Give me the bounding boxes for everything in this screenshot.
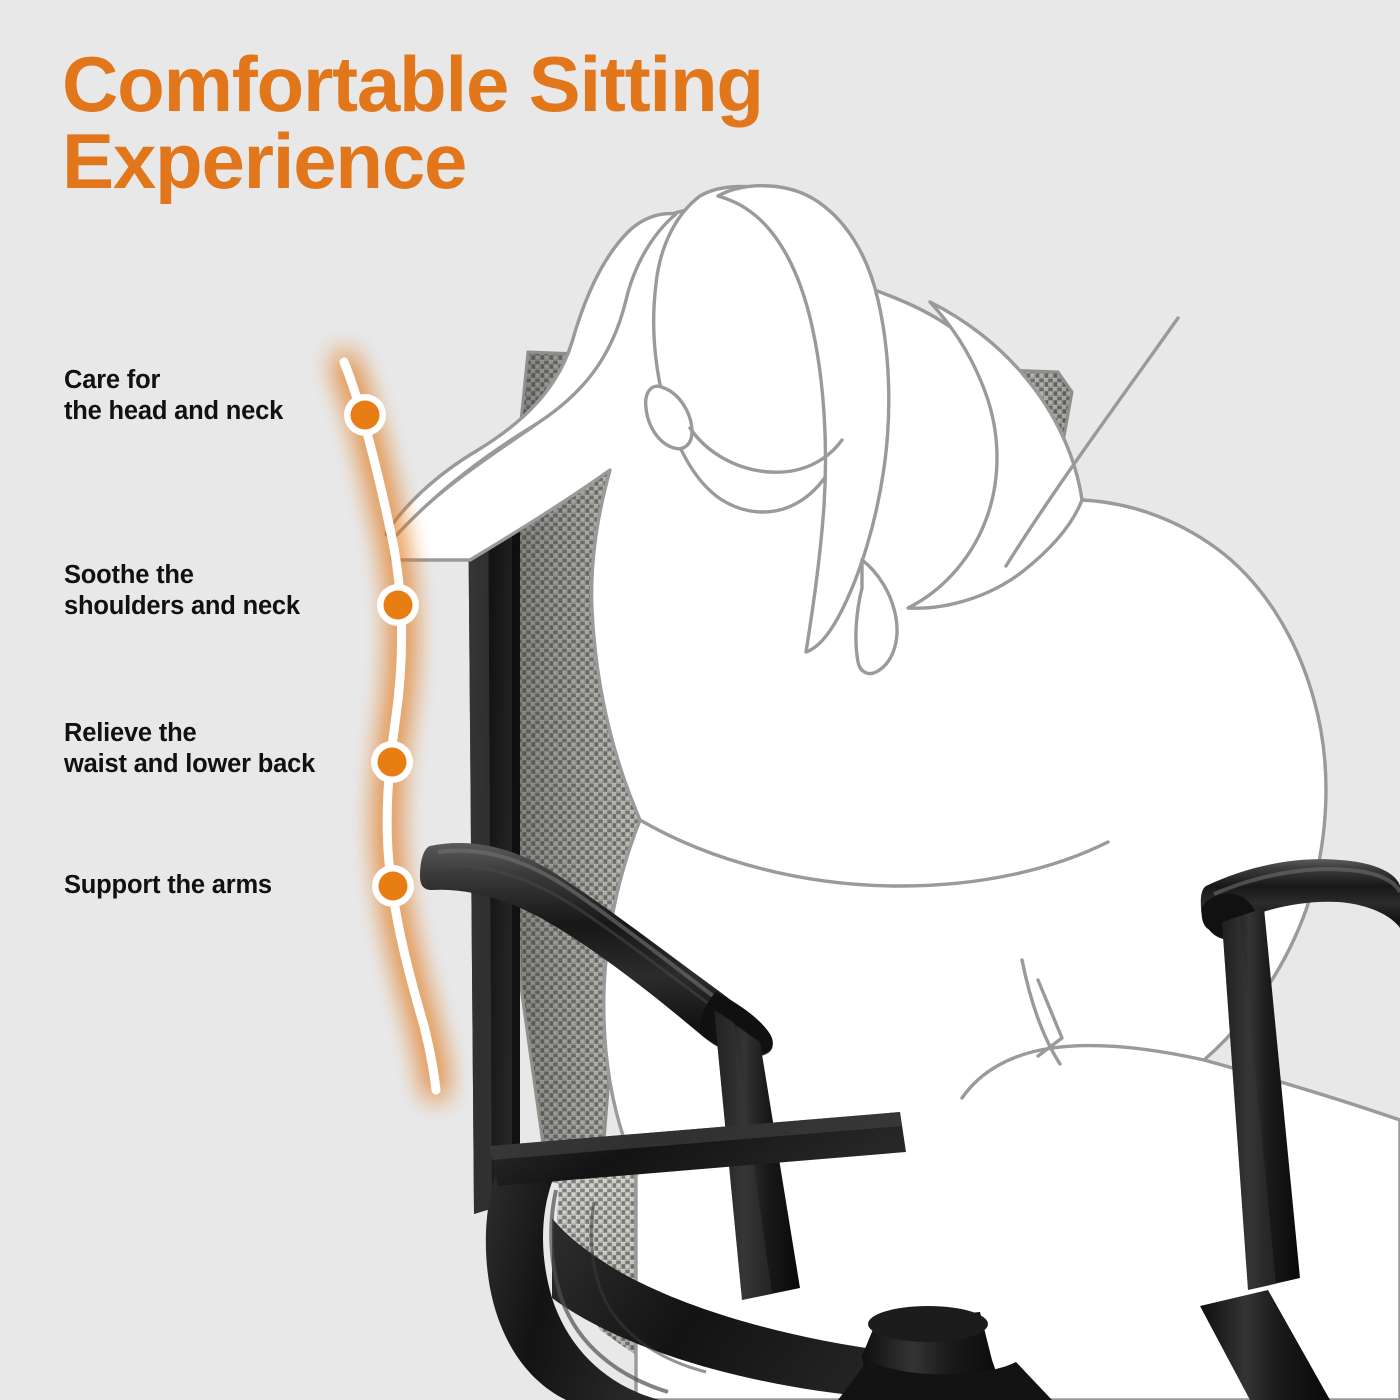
callout-line-2: waist and lower back	[64, 749, 315, 780]
callout-dot-head-and-neck[interactable]	[344, 394, 386, 436]
callout-label-shoulders-and-neck: Soothe the shoulders and neck	[64, 560, 300, 622]
callout-line-1: Relieve the	[64, 718, 315, 749]
infographic-canvas: Comfortable Sitting Experience Care for …	[0, 0, 1400, 1400]
callout-label-support-the-arms: Support the arms	[64, 870, 272, 901]
spine-glow	[344, 362, 436, 1090]
callout-line-1: Soothe the	[64, 560, 300, 591]
callout-dot-shoulders-and-neck[interactable]	[377, 584, 419, 626]
callout-dot-waist-and-lower-back[interactable]	[371, 741, 413, 783]
title-line-1: Comfortable Sitting	[62, 46, 962, 123]
callout-line-1: Support the arms	[64, 870, 272, 901]
callout-line-2: shoulders and neck	[64, 591, 300, 622]
callout-label-waist-and-lower-back: Relieve the waist and lower back	[64, 718, 315, 780]
callout-line-1: Care for	[64, 365, 283, 396]
callout-label-head-and-neck: Care for the head and neck	[64, 365, 283, 427]
title-line-2: Experience	[62, 123, 962, 200]
callout-line-2: the head and neck	[64, 396, 283, 427]
spine-curve-layer	[0, 0, 1400, 1400]
callout-dot-support-the-arms[interactable]	[372, 865, 414, 907]
page-title: Comfortable Sitting Experience	[62, 46, 962, 200]
